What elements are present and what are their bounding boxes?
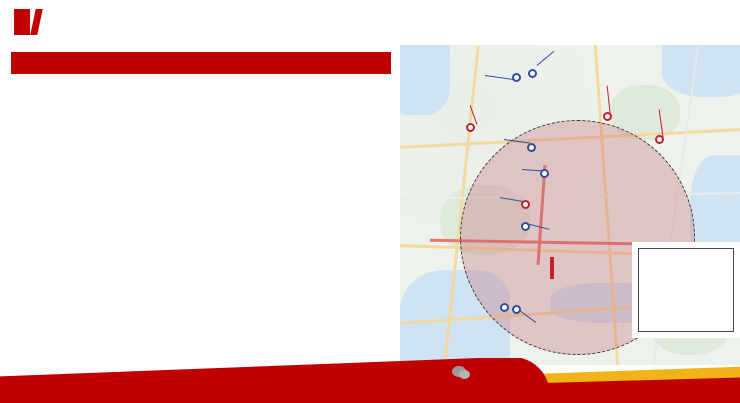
watermark: [452, 366, 477, 381]
map-leader-line: [550, 257, 554, 279]
page-header: [0, 0, 740, 48]
map-pin-tianen-shuangyu[interactable]: [521, 222, 530, 231]
education-table-container: [11, 52, 391, 74]
map-pin-huanggang-zengcheng[interactable]: [512, 305, 521, 314]
th-scale: [265, 52, 391, 74]
page-footer: [0, 358, 740, 403]
wechat-icon: [452, 366, 471, 381]
map-pin-zengcheng-zhongxue[interactable]: [512, 73, 521, 82]
map-pin-project[interactable]: [500, 303, 509, 312]
th-level: [205, 52, 265, 74]
map-water-area: [662, 45, 740, 97]
map-pin-huanan-zengjiang-xuexiao[interactable]: [655, 135, 664, 144]
map-pin-huashi-fuzhong[interactable]: [521, 200, 530, 209]
education-table: [11, 52, 391, 74]
map-pin-huanan-zengjiang-xiaoxue[interactable]: [603, 112, 612, 121]
th-spacer: [11, 52, 55, 74]
map-water-area: [400, 45, 450, 115]
map-pin-zhixin-zhongxue[interactable]: [466, 123, 475, 132]
map-pin-zengchengqu-shiyan-xiaoxue[interactable]: [528, 69, 537, 78]
header-accent-bar-small: [30, 9, 43, 35]
map-legend-mask: [638, 248, 734, 332]
map-pin-diyi-zhongxue[interactable]: [540, 169, 549, 178]
th-facility: [55, 52, 205, 74]
map-pin-shaonian-gong[interactable]: [527, 143, 536, 152]
table-header-row: [11, 52, 391, 74]
header-accent-bar-large: [14, 9, 30, 35]
